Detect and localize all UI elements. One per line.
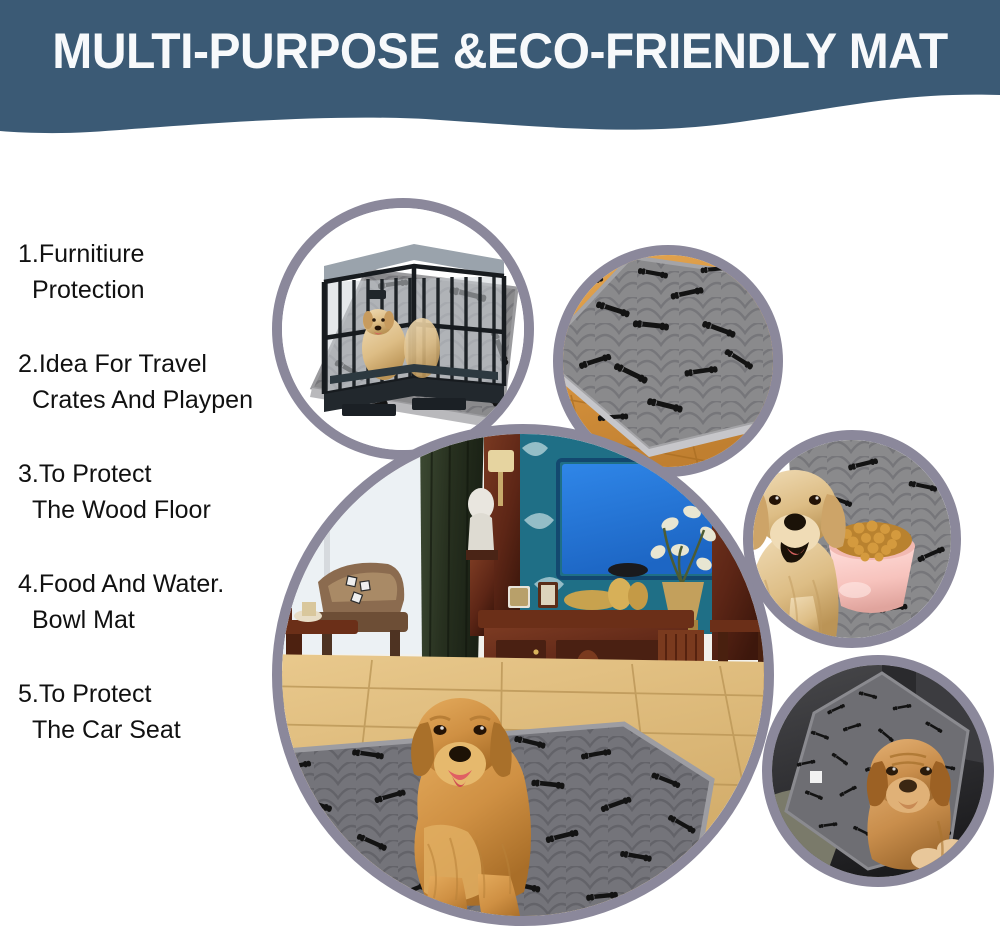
food-bowl-scene: [743, 430, 961, 648]
feature-4-line1: Food And Water.: [39, 570, 224, 598]
feature-4-line2: Bowl Mat: [18, 602, 288, 638]
feature-4-number: 4.: [18, 570, 39, 598]
photo-circle-food-bowl: [743, 430, 961, 648]
feature-item-5: 5.To Protect The Car Seat: [18, 676, 288, 748]
crate-latch-icon: [368, 290, 386, 299]
feature-5-line1: To Protect: [39, 680, 152, 708]
dog-crate: [324, 244, 504, 416]
mat-care-tag: [810, 771, 822, 783]
feature-3-line2: The Wood Floor: [18, 492, 288, 528]
television: [562, 464, 712, 574]
feature-item-2: 2.Idea For Travel Crates And Playpen: [18, 346, 288, 418]
feature-3-line1: To Protect: [39, 460, 152, 488]
photo-circle-car-seat: [762, 655, 994, 887]
feature-5-line2: The Car Seat: [18, 712, 288, 748]
feature-1-number: 1.: [18, 240, 39, 268]
feature-1-line2: Protection: [18, 272, 288, 308]
feature-item-4: 4.Food And Water. Bowl Mat: [18, 566, 288, 638]
feature-item-3: 3.To Protect The Wood Floor: [18, 456, 288, 528]
feature-list: 1.Furnitiure Protection 2.Idea For Trave…: [18, 236, 288, 786]
feature-5-number: 5.: [18, 680, 39, 708]
photo-circle-living-room: [272, 424, 774, 926]
golden-retriever-dog: [744, 470, 845, 648]
crate-scene: [272, 198, 534, 460]
feature-item-1: 1.Furnitiure Protection: [18, 236, 288, 308]
page-title: MULTI-PURPOSE &ECO-FRIENDLY MAT: [20, 22, 980, 80]
feature-1-line1: Furnitiure: [39, 240, 145, 268]
feature-2-line1: Idea For Travel: [39, 350, 207, 378]
feature-2-line2: Crates And Playpen: [18, 382, 288, 418]
feature-2-number: 2.: [18, 350, 39, 378]
photo-circle-crate: [272, 198, 534, 460]
car-seat-scene: [762, 655, 994, 887]
header-banner: MULTI-PURPOSE &ECO-FRIENDLY MAT: [0, 0, 1000, 140]
living-room-scene: [272, 424, 774, 926]
feature-3-number: 3.: [18, 460, 39, 488]
